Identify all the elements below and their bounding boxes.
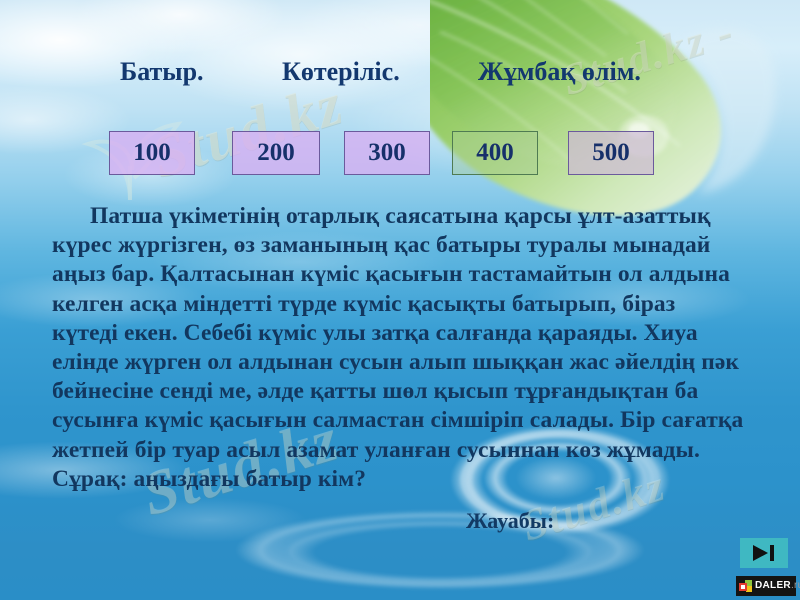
quiz-slide: Stud.kz Stud.kz - Stud.kz Stud.kz Батыр.…	[0, 0, 800, 600]
value-button-200[interactable]: 200	[232, 131, 320, 175]
category-header-koterilis: Көтеріліс.	[282, 53, 400, 91]
question-body-text: Патша үкіметінің отарлық саясатына қарсы…	[52, 202, 744, 494]
value-button-400[interactable]: 400	[452, 131, 538, 175]
category-header-batyr: Батыр.	[120, 53, 204, 91]
daler-logo-icon	[739, 580, 752, 593]
value-button-row: 100 200 300 400 500	[0, 131, 800, 177]
value-button-300[interactable]: 300	[344, 131, 430, 175]
next-slide-button[interactable]	[740, 538, 788, 568]
value-button-100[interactable]: 100	[109, 131, 195, 175]
value-button-500[interactable]: 500	[568, 131, 654, 175]
category-header-row: Батыр. Көтеріліс. Жұмбақ өлім.	[0, 53, 800, 93]
category-header-zhumbak-olim: Жұмбақ өлім.	[478, 53, 641, 91]
daler-brand-tld: .ru	[791, 580, 800, 591]
daler-brand-text: DALER.ru	[755, 581, 800, 591]
leaf-image	[430, 0, 800, 230]
next-skip-icon	[750, 544, 778, 562]
answer-label: Жауабы:	[466, 508, 554, 534]
daler-brand-name: DALER	[755, 580, 791, 591]
daler-brand-badge: DALER.ru	[736, 576, 796, 596]
